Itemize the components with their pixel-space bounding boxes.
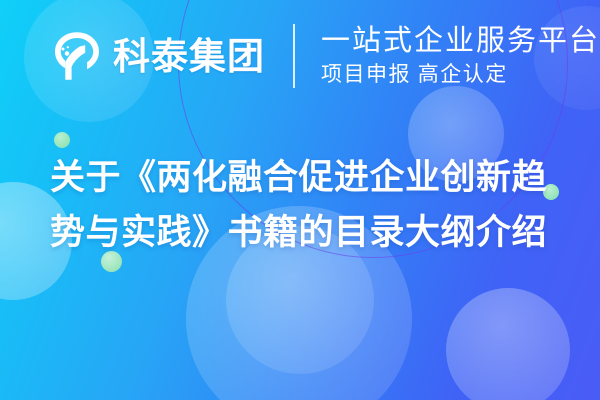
ketai-swirl-logo-icon (50, 29, 104, 83)
slogan-sub-text: 项目申报 高企认定 (321, 61, 600, 87)
decorative-circle-bottom-right (446, 288, 570, 400)
slogan-main-text: 一站式企业服务平台 (321, 25, 600, 57)
headline-line-1: 关于《两化融合促进企业创新趋 (50, 150, 560, 205)
headline-line-2: 势与实践》书籍的目录大纲介绍 (50, 205, 560, 260)
banner-header: 科泰集团 一站式企业服务平台 项目申报 高企认定 (0, 0, 600, 112)
headline: 关于《两化融合促进企业创新趋 势与实践》书籍的目录大纲介绍 (50, 150, 560, 260)
header-divider (293, 24, 295, 88)
decorative-green-dot-upper-left (54, 132, 70, 148)
brand-name: 科泰集团 (113, 38, 265, 75)
brand-lockup: 科泰集团 (50, 29, 265, 83)
promo-banner: 科泰集团 一站式企业服务平台 项目申报 高企认定 关于《两化融合促进企业创新趋 … (0, 0, 600, 400)
slogan-block: 一站式企业服务平台 项目申报 高企认定 (321, 25, 600, 87)
